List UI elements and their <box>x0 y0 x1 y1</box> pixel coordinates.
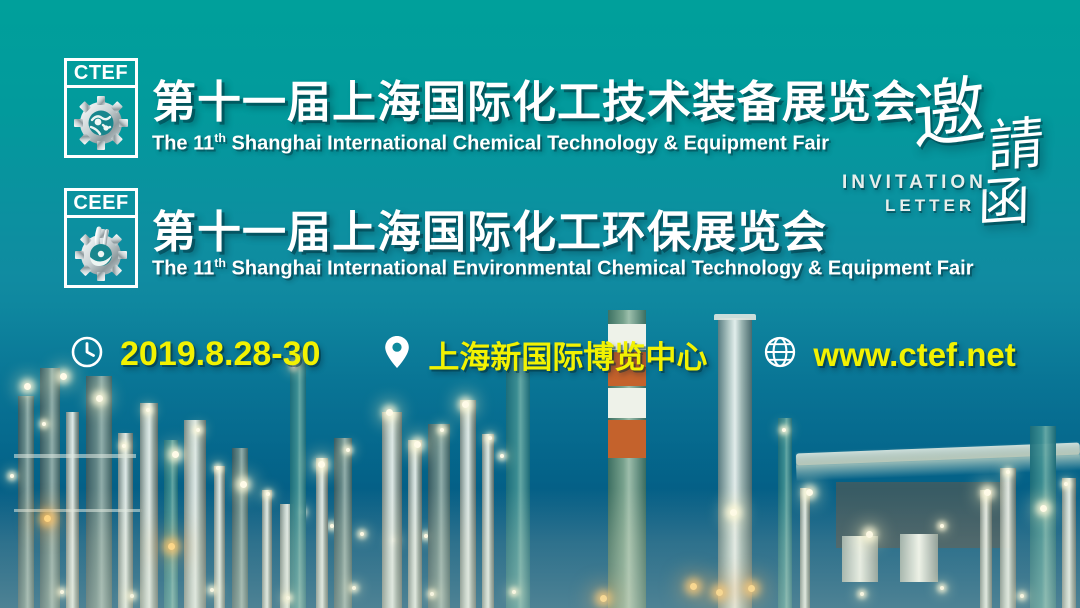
ctef-logo: CTEF <box>64 58 138 158</box>
ceef-title-en-rest: Shanghai International Environmental Che… <box>226 258 974 280</box>
ctef-title-cn: 第十一届上海国际化工技术装备展览会 <box>152 66 917 130</box>
event-venue: 上海新国际博览中心 <box>428 332 707 377</box>
ctef-title-en-rest: Shanghai International Chemical Technolo… <box>226 133 829 155</box>
ceef-title-cn: 第十一届上海国际化工环保展览会 <box>152 196 827 260</box>
gear-globe-icon <box>67 91 135 155</box>
ctef-title-en-sup: th <box>214 131 226 145</box>
map-pin-icon <box>382 334 412 375</box>
info-item-venue: 上海新国际博览中心 <box>382 332 707 377</box>
ctef-title-en-prefix: The 11 <box>152 133 214 155</box>
calligraphy-char-han: 函 <box>977 158 1030 237</box>
event-info-bar: 2019.8.28-30 上海新国际博览中心 www.ctef.net <box>70 332 1016 377</box>
clock-icon <box>70 335 104 374</box>
event-date: 2019.8.28-30 <box>120 335 320 374</box>
info-item-website[interactable]: www.ctef.net <box>763 335 1015 374</box>
gear-leaf-icon <box>67 221 135 285</box>
photo-ground-haze <box>0 488 1080 608</box>
ceef-logo: CEEF <box>64 188 138 288</box>
invitation-banner: CTEF <box>0 0 1080 608</box>
invitation-label-line2: LETTER <box>885 196 975 216</box>
globe-icon <box>763 335 797 374</box>
ctef-title-en: The 11th Shanghai International Chemical… <box>152 131 829 156</box>
ceef-title-en-prefix: The 11 <box>152 258 214 280</box>
ceef-title-en-sup: th <box>214 256 226 270</box>
calligraphy-char-yao: 邀 <box>910 49 987 165</box>
event-website[interactable]: www.ctef.net <box>813 336 1015 374</box>
ceef-title-en: The 11th Shanghai International Environm… <box>152 256 973 281</box>
invitation-label-line1: INVITATION <box>842 172 987 194</box>
info-item-date: 2019.8.28-30 <box>70 335 320 374</box>
ctef-logo-tag: CTEF <box>64 58 138 88</box>
ceef-logo-tag: CEEF <box>64 188 138 218</box>
